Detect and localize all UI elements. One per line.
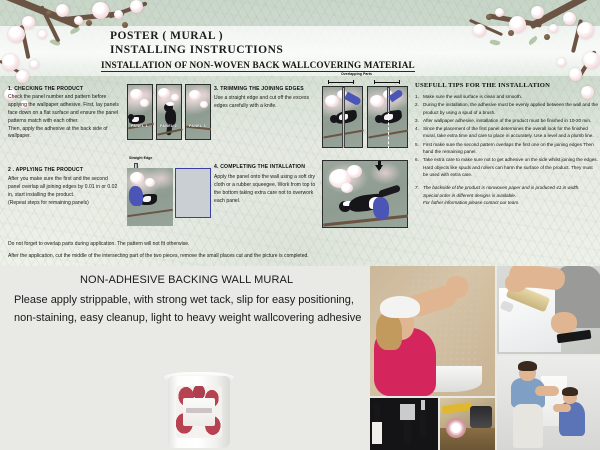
tip-item: 1. Make sure the wall surface is clean a… xyxy=(415,93,599,101)
utility-knife-blade xyxy=(421,400,425,410)
knife-icon xyxy=(344,92,362,107)
child-hair xyxy=(562,387,578,396)
photo-man-and-child xyxy=(497,356,600,450)
tip-number: 2. xyxy=(415,101,421,116)
photo-tool-set xyxy=(370,398,438,450)
woman-cap xyxy=(380,296,420,318)
woman-hand xyxy=(446,276,468,298)
tip-number: 4. xyxy=(415,125,421,140)
promo-body: Please apply strippable, with strong wet… xyxy=(14,292,364,328)
mural-panel-1: PANEL 1 xyxy=(127,84,153,140)
squeegee-hand-icon xyxy=(373,197,389,219)
step-2-blank-panel xyxy=(175,168,211,218)
step-3-heading: 3. TRIMMING THE JOINING EDGES xyxy=(214,86,304,92)
step-4-body: Apply the panel onto the wall using a so… xyxy=(214,174,318,206)
bucket-label-bar xyxy=(186,408,212,413)
step-1-body: Check the panel number and pattern befor… xyxy=(8,94,120,141)
tip-text: Make sure the wall surface is clean and … xyxy=(423,93,522,101)
promo-title: NON-ADHESIVE BACKING WALL MURAL xyxy=(80,274,293,286)
worker-hand-upper xyxy=(505,274,527,292)
tip-text: First make sure the second pattern overl… xyxy=(423,141,599,156)
tip-number: 5. xyxy=(415,141,421,156)
tip-number: 6. xyxy=(415,156,421,179)
utility-knife-body xyxy=(420,408,426,438)
tip-item: 4. Since the placement of the first pane… xyxy=(415,125,599,140)
hand-icon xyxy=(129,186,143,206)
page-subtitle: INSTALLATION OF NON-WOVEN BACK WALLCOVER… xyxy=(101,60,415,72)
step-2-body: After you make sure the first and the se… xyxy=(8,176,120,208)
tips-heading: USEFULL TIPS FOR THE INSTALLATION xyxy=(415,82,550,89)
adhesive-bucket-label xyxy=(176,386,222,438)
paste-bucket xyxy=(470,406,492,428)
tip-text: During the installation, the adhesive mu… xyxy=(423,101,599,116)
wallpaper-roll xyxy=(446,418,466,438)
overlap-dimension-right xyxy=(374,80,400,84)
step-3-panel-b xyxy=(367,86,408,148)
tip-text: Since the placement of the first panel d… xyxy=(423,125,599,140)
step-3-body: Use a straight edge and cut off the exce… xyxy=(214,95,318,111)
overlapping-parts-label: Overlapping Parts xyxy=(341,72,372,76)
tips-list: 1. Make sure the wall surface is clean a… xyxy=(415,93,599,208)
child-arm xyxy=(553,404,571,412)
tip-number: 7. xyxy=(415,184,421,207)
footer-note-1: Do not forget to overlap parts during ap… xyxy=(8,241,189,247)
mural-panel-2: PANEL 2 xyxy=(156,84,182,140)
cut-line-guide xyxy=(388,113,389,148)
mural-panel-3-label: PANEL 3 xyxy=(189,124,206,128)
tip-item: 2. During the installation, the adhesive… xyxy=(415,101,599,116)
step-4-panel xyxy=(322,160,408,228)
tip-text: The backside of the product is nonwoven … xyxy=(423,184,580,207)
brush-head xyxy=(372,422,382,444)
man-hair xyxy=(518,361,537,371)
scraper-blade xyxy=(400,404,415,420)
tip-item: 6. Take extra care to make sure not to g… xyxy=(415,156,599,179)
man-pants xyxy=(513,404,543,448)
page-title: POSTER ( MURAL ) xyxy=(110,30,223,42)
overlap-dimension-left xyxy=(328,80,354,84)
tip-number: 1. xyxy=(415,93,421,101)
tip-number: 3. xyxy=(415,117,421,125)
mural-panel-2-label: PANEL 2 xyxy=(160,124,177,128)
step-3-illustration xyxy=(322,86,408,148)
mural-panel-1-label: PANEL 1 xyxy=(131,124,148,128)
instruction-sheet: POSTER ( MURAL ) INSTALLING INSTRUCTIONS… xyxy=(0,0,600,266)
tip-item: 7. The backside of the product is nonwov… xyxy=(415,184,599,207)
step-1-illustration: PANEL 1 PANEL 2 PANEL 3 xyxy=(127,84,211,140)
tip-item: 5. First make sure the second pattern ov… xyxy=(415,141,599,156)
footer-note-2: After the application, cut the middle of… xyxy=(8,253,309,259)
photo-workbench-tools xyxy=(440,398,495,450)
brush-handle xyxy=(374,402,380,422)
straight-edge-tool-3b xyxy=(387,87,390,113)
worker-hand-lower xyxy=(551,312,577,334)
smoothing-blade xyxy=(386,404,398,440)
press-down-arrow-shaft xyxy=(378,161,381,169)
step-3-panel-a xyxy=(322,86,363,148)
tip-item: 3. After wallpaper adhesive, installatio… xyxy=(415,117,599,125)
step-4-heading: 4. COMPLETING THE INTALLATION xyxy=(214,164,305,170)
step-1-heading: 1. CHECKING THE PRODUCT xyxy=(8,86,83,92)
step-2-illustration: Straight Edge xyxy=(127,156,211,228)
photo-woman-applying-wallpaper xyxy=(370,266,495,396)
scraper-grip xyxy=(404,418,411,444)
tip-text: After wallpaper adhesive, installation o… xyxy=(423,117,591,125)
photo-roller-application xyxy=(497,266,600,354)
step-4-illustration xyxy=(322,160,408,228)
step-2-heading: 2 . APPLYING THE PRODUCT xyxy=(8,167,83,173)
mural-panel-3: PANEL 3 xyxy=(185,84,211,140)
yellow-tool xyxy=(442,402,473,414)
tip-text: Take extra care to make sure not to get … xyxy=(423,156,599,179)
man-arm xyxy=(535,386,559,396)
straight-edge-label: Straight Edge xyxy=(129,156,152,160)
page-title-2: INSTALLING INSTRUCTIONS xyxy=(110,44,283,56)
